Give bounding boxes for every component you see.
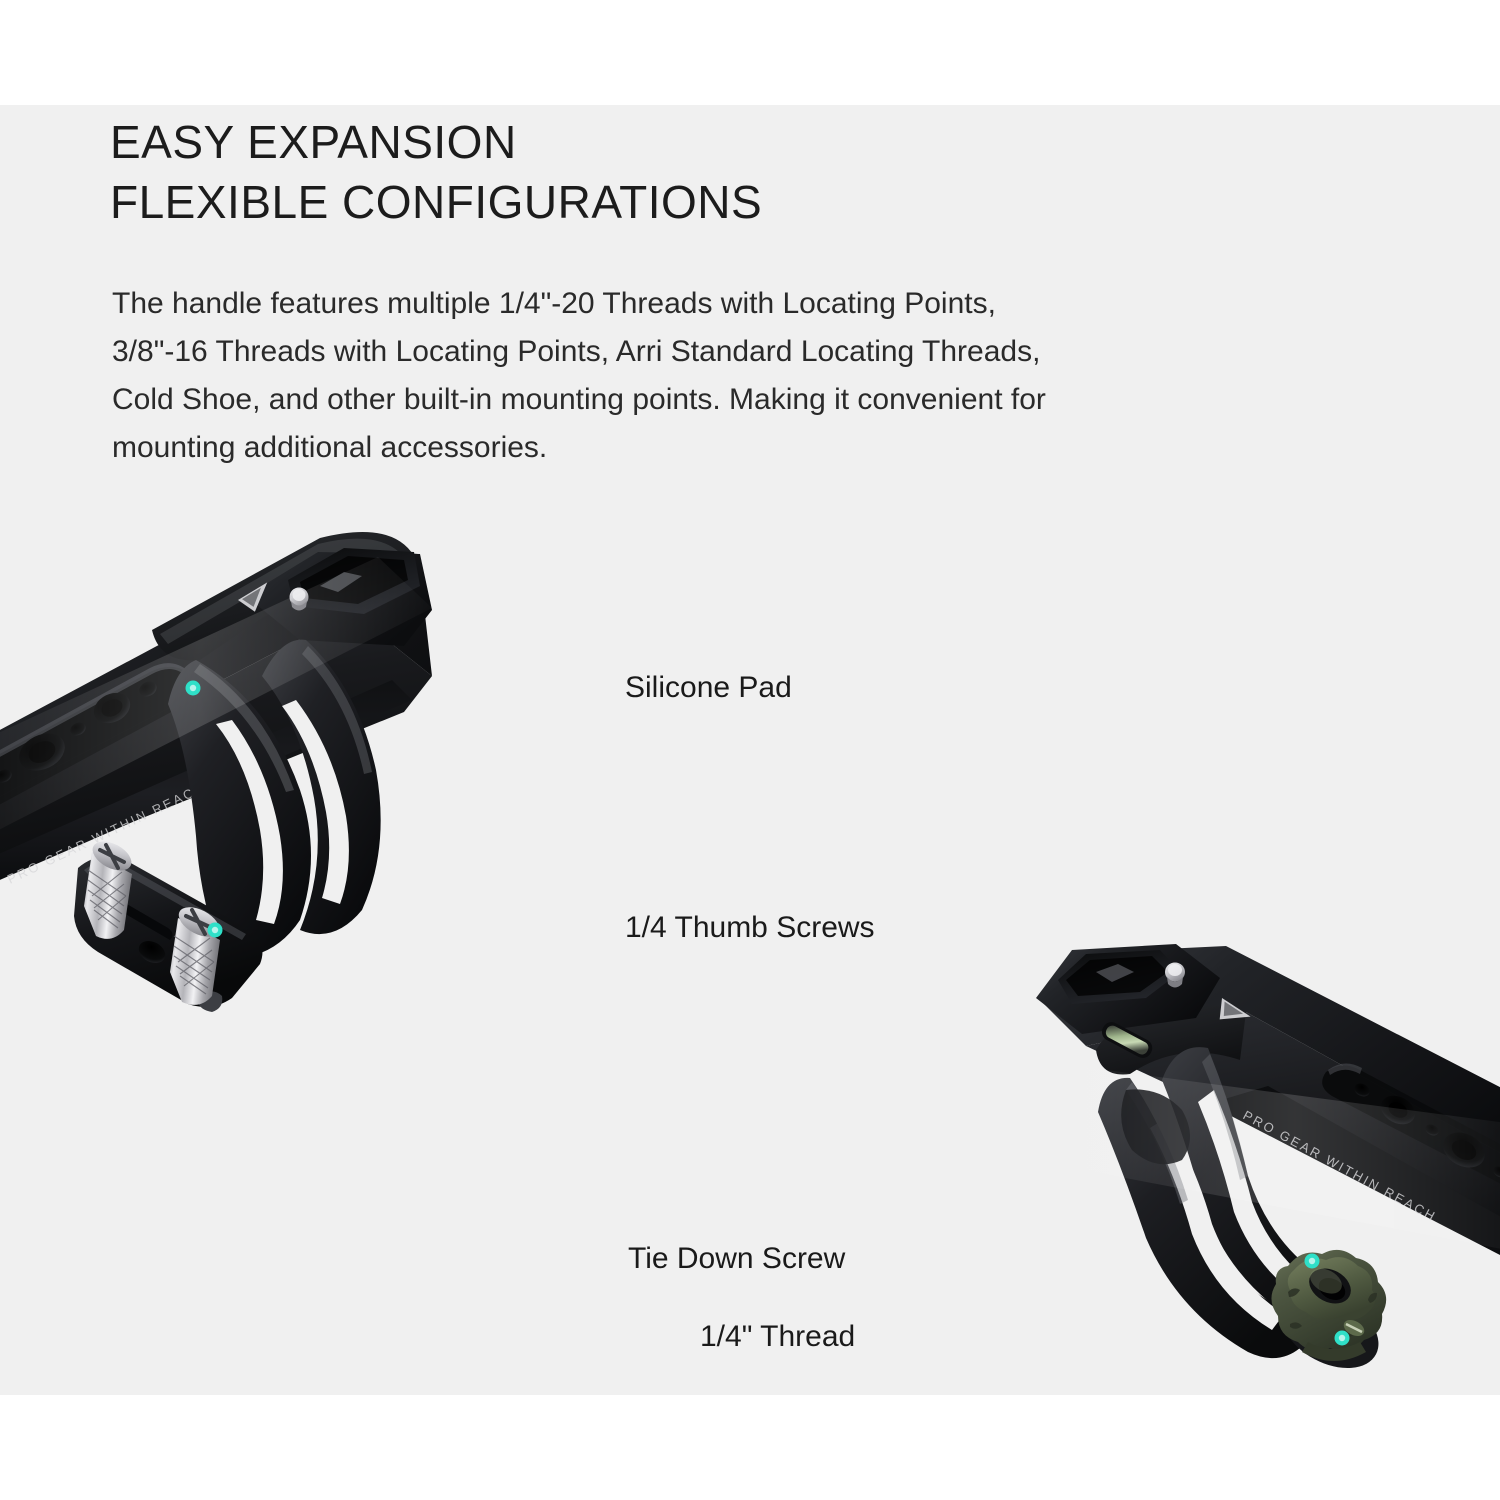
description-line-1: The handle features multiple 1/4"-20 Thr… (112, 280, 1322, 328)
description-line-3: Cold Shoe, and other built-in mounting p… (112, 376, 1322, 424)
heading-line-2: FLEXIBLE CONFIGURATIONS (110, 172, 1310, 232)
heading-block: EASY EXPANSION FLEXIBLE CONFIGURATIONS (110, 112, 1310, 232)
callout-label-quarter-thread: 1/4" Thread (700, 1322, 855, 1352)
callout-label-silicone-pad: Silicone Pad (625, 673, 792, 703)
callout-label-thumb-screws: 1/4 Thumb Screws (625, 913, 875, 943)
infographic-page: EASY EXPANSION FLEXIBLE CONFIGURATIONS T… (0, 0, 1500, 1500)
callout-label-tie-down-screw: Tie Down Screw (628, 1244, 845, 1274)
heading-line-1: EASY EXPANSION (110, 112, 1310, 172)
description-line-2: 3/8"-16 Threads with Locating Points, Ar… (112, 328, 1322, 376)
description-line-4: mounting additional accessories. (112, 424, 1322, 472)
description-paragraph: The handle features multiple 1/4"-20 Thr… (112, 280, 1322, 472)
